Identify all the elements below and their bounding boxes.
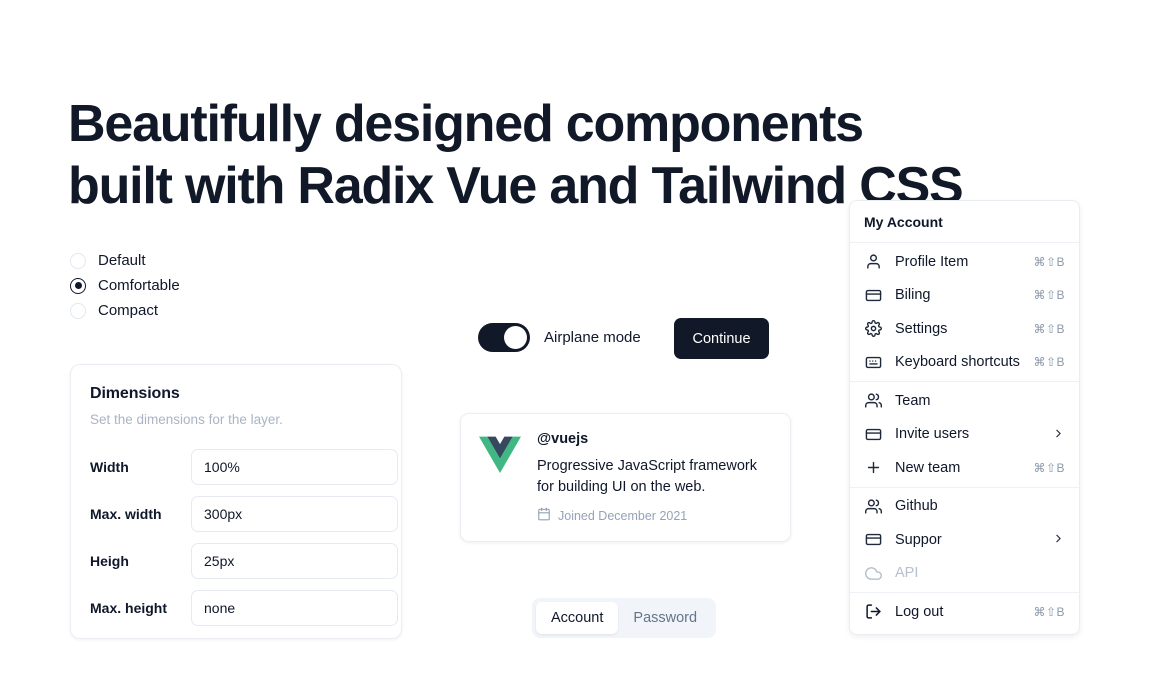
menu-item-shortcut: ⌘⇧B [1033,605,1065,619]
vuejs-hover-card: @vuejs Progressive JavaScript framework … [460,413,791,542]
credit-card-icon [864,531,882,549]
calendar-icon [537,507,558,524]
menu-item-label: Log out [895,604,1033,620]
menu-separator [850,592,1079,593]
field-label-width: Width [90,459,191,475]
menu-item-keyboard-shortcuts[interactable]: Keyboard shortcuts ⌘⇧B [850,346,1079,380]
radio-option-comfortable[interactable]: Comfortable [70,273,180,298]
menu-item-label: Invite users [895,426,1052,442]
menu-item-api: API [850,557,1079,591]
menu-item-shortcut: ⌘⇧B [1033,288,1065,302]
max-width-input[interactable] [191,496,398,532]
menu-item-label: Biling [895,287,1033,303]
joined-date-text: Joined December 2021 [558,509,687,523]
tab-account[interactable]: Account [536,602,618,634]
height-input[interactable] [191,543,398,579]
dimensions-row-max-height: Max. height [90,584,382,631]
airplane-mode-switch-group: Airplane mode [478,323,641,352]
menu-item-label: Team [895,393,1065,409]
radio-circle-checked-icon[interactable] [70,278,86,294]
menu-item-new-team[interactable]: New team ⌘⇧B [850,451,1079,485]
menu-item-shortcut: ⌘⇧B [1033,322,1065,336]
menu-item-profile[interactable]: Profile Item ⌘⇧B [850,245,1079,279]
chevron-right-icon [1052,532,1065,547]
menu-item-label: Profile Item [895,254,1033,270]
menu-item-billing[interactable]: Biling ⌘⇧B [850,279,1079,313]
radio-option-label: Comfortable [98,277,180,294]
dimensions-title: Dimensions [90,385,382,403]
joined-row: Joined December 2021 [537,507,777,524]
menu-separator [850,242,1079,243]
credit-card-icon [864,425,882,443]
hover-card-body: @vuejs Progressive JavaScript framework … [537,431,777,524]
dimensions-row-height: Heigh [90,537,382,584]
credit-card-icon [864,286,882,304]
vue-logo-icon [479,434,521,476]
plus-icon [864,459,882,477]
menu-item-label: Keyboard shortcuts [895,354,1033,370]
menu-item-label: API [895,565,1065,581]
field-label-max-height: Max. height [90,600,191,616]
menu-item-team[interactable]: Team [850,384,1079,418]
menu-header-label: My Account [850,206,1079,240]
menu-item-settings[interactable]: Settings ⌘⇧B [850,312,1079,346]
field-label-max-width: Max. width [90,506,191,522]
users-icon [864,497,882,515]
page-title: Beautifully designed components built wi… [68,93,1028,217]
menu-item-github[interactable]: Github [850,490,1079,524]
menu-separator [850,487,1079,488]
page-root: Beautifully designed components built wi… [0,0,1152,700]
chevron-right-icon [1052,427,1065,442]
menu-separator [850,381,1079,382]
cloud-icon [864,564,882,582]
menu-item-support[interactable]: Suppor [850,523,1079,557]
user-icon [864,253,882,271]
page-title-line-1: Beautifully designed components [68,93,1028,155]
menu-item-label: Suppor [895,532,1052,548]
menu-item-label: Settings [895,321,1033,337]
radio-option-label: Default [98,252,146,269]
my-account-dropdown-menu: My Account Profile Item ⌘⇧B Biling ⌘⇧B [849,200,1080,635]
gear-icon [864,320,882,338]
density-radio-group: Default Comfortable Compact [70,248,180,323]
airplane-mode-toggle[interactable] [478,323,530,352]
users-icon [864,392,882,410]
width-input[interactable] [191,449,398,485]
dimensions-subtitle: Set the dimensions for the layer. [90,412,382,427]
radio-option-default[interactable]: Default [70,248,180,273]
dimensions-field-list: Width Max. width Heigh Max. height [90,443,382,631]
vuejs-handle: @vuejs [537,431,777,447]
radio-option-compact[interactable]: Compact [70,298,180,323]
dimensions-row-max-width: Max. width [90,490,382,537]
vuejs-description: Progressive JavaScript framework for bui… [537,456,777,498]
keyboard-icon [864,353,882,371]
dimensions-row-width: Width [90,443,382,490]
field-label-height: Heigh [90,553,191,569]
menu-item-shortcut: ⌘⇧B [1033,461,1065,475]
radio-circle-icon[interactable] [70,253,86,269]
settings-tabs: Account Password [532,598,716,638]
menu-item-invite-users[interactable]: Invite users [850,418,1079,452]
menu-item-label: Github [895,498,1065,514]
menu-item-shortcut: ⌘⇧B [1033,255,1065,269]
max-height-input[interactable] [191,590,398,626]
radio-circle-icon[interactable] [70,303,86,319]
menu-item-log-out[interactable]: Log out ⌘⇧B [850,595,1079,629]
airplane-mode-label: Airplane mode [544,329,641,346]
logout-icon [864,603,882,621]
radio-option-label: Compact [98,302,158,319]
dimensions-card: Dimensions Set the dimensions for the la… [70,364,402,639]
menu-item-label: New team [895,460,1033,476]
continue-button[interactable]: Continue [674,318,769,359]
tab-password[interactable]: Password [618,602,712,634]
menu-item-shortcut: ⌘⇧B [1033,355,1065,369]
toggle-knob [504,326,527,349]
